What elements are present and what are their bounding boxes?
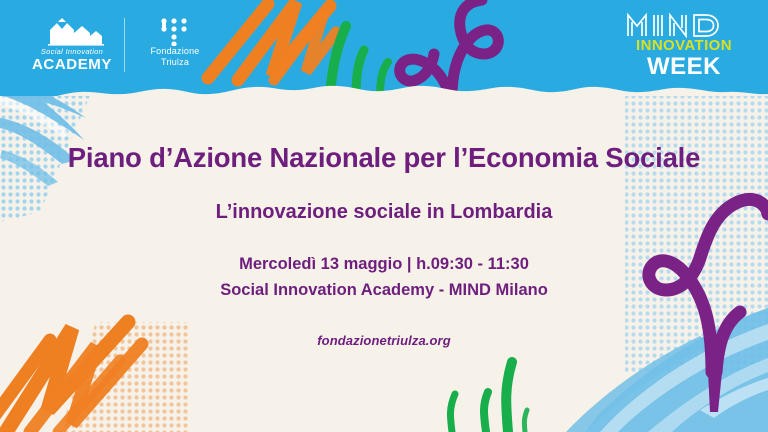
event-datetime: Mercoledì 13 maggio | h.09:30 - 11:30 xyxy=(239,253,529,276)
website-link[interactable]: fondazionetriulza.org xyxy=(317,332,451,350)
event-poster: Social Innovation ACADEMY Fondazion xyxy=(0,0,768,432)
page-title: Piano d’Azione Nazionale per l’Economia … xyxy=(68,141,700,175)
main-content: Piano d’Azione Nazionale per l’Economia … xyxy=(0,0,768,432)
page-subtitle: L’innovazione sociale in Lombardia xyxy=(216,199,553,225)
event-venue: Social Innovation Academy - MIND Milano xyxy=(220,279,548,302)
